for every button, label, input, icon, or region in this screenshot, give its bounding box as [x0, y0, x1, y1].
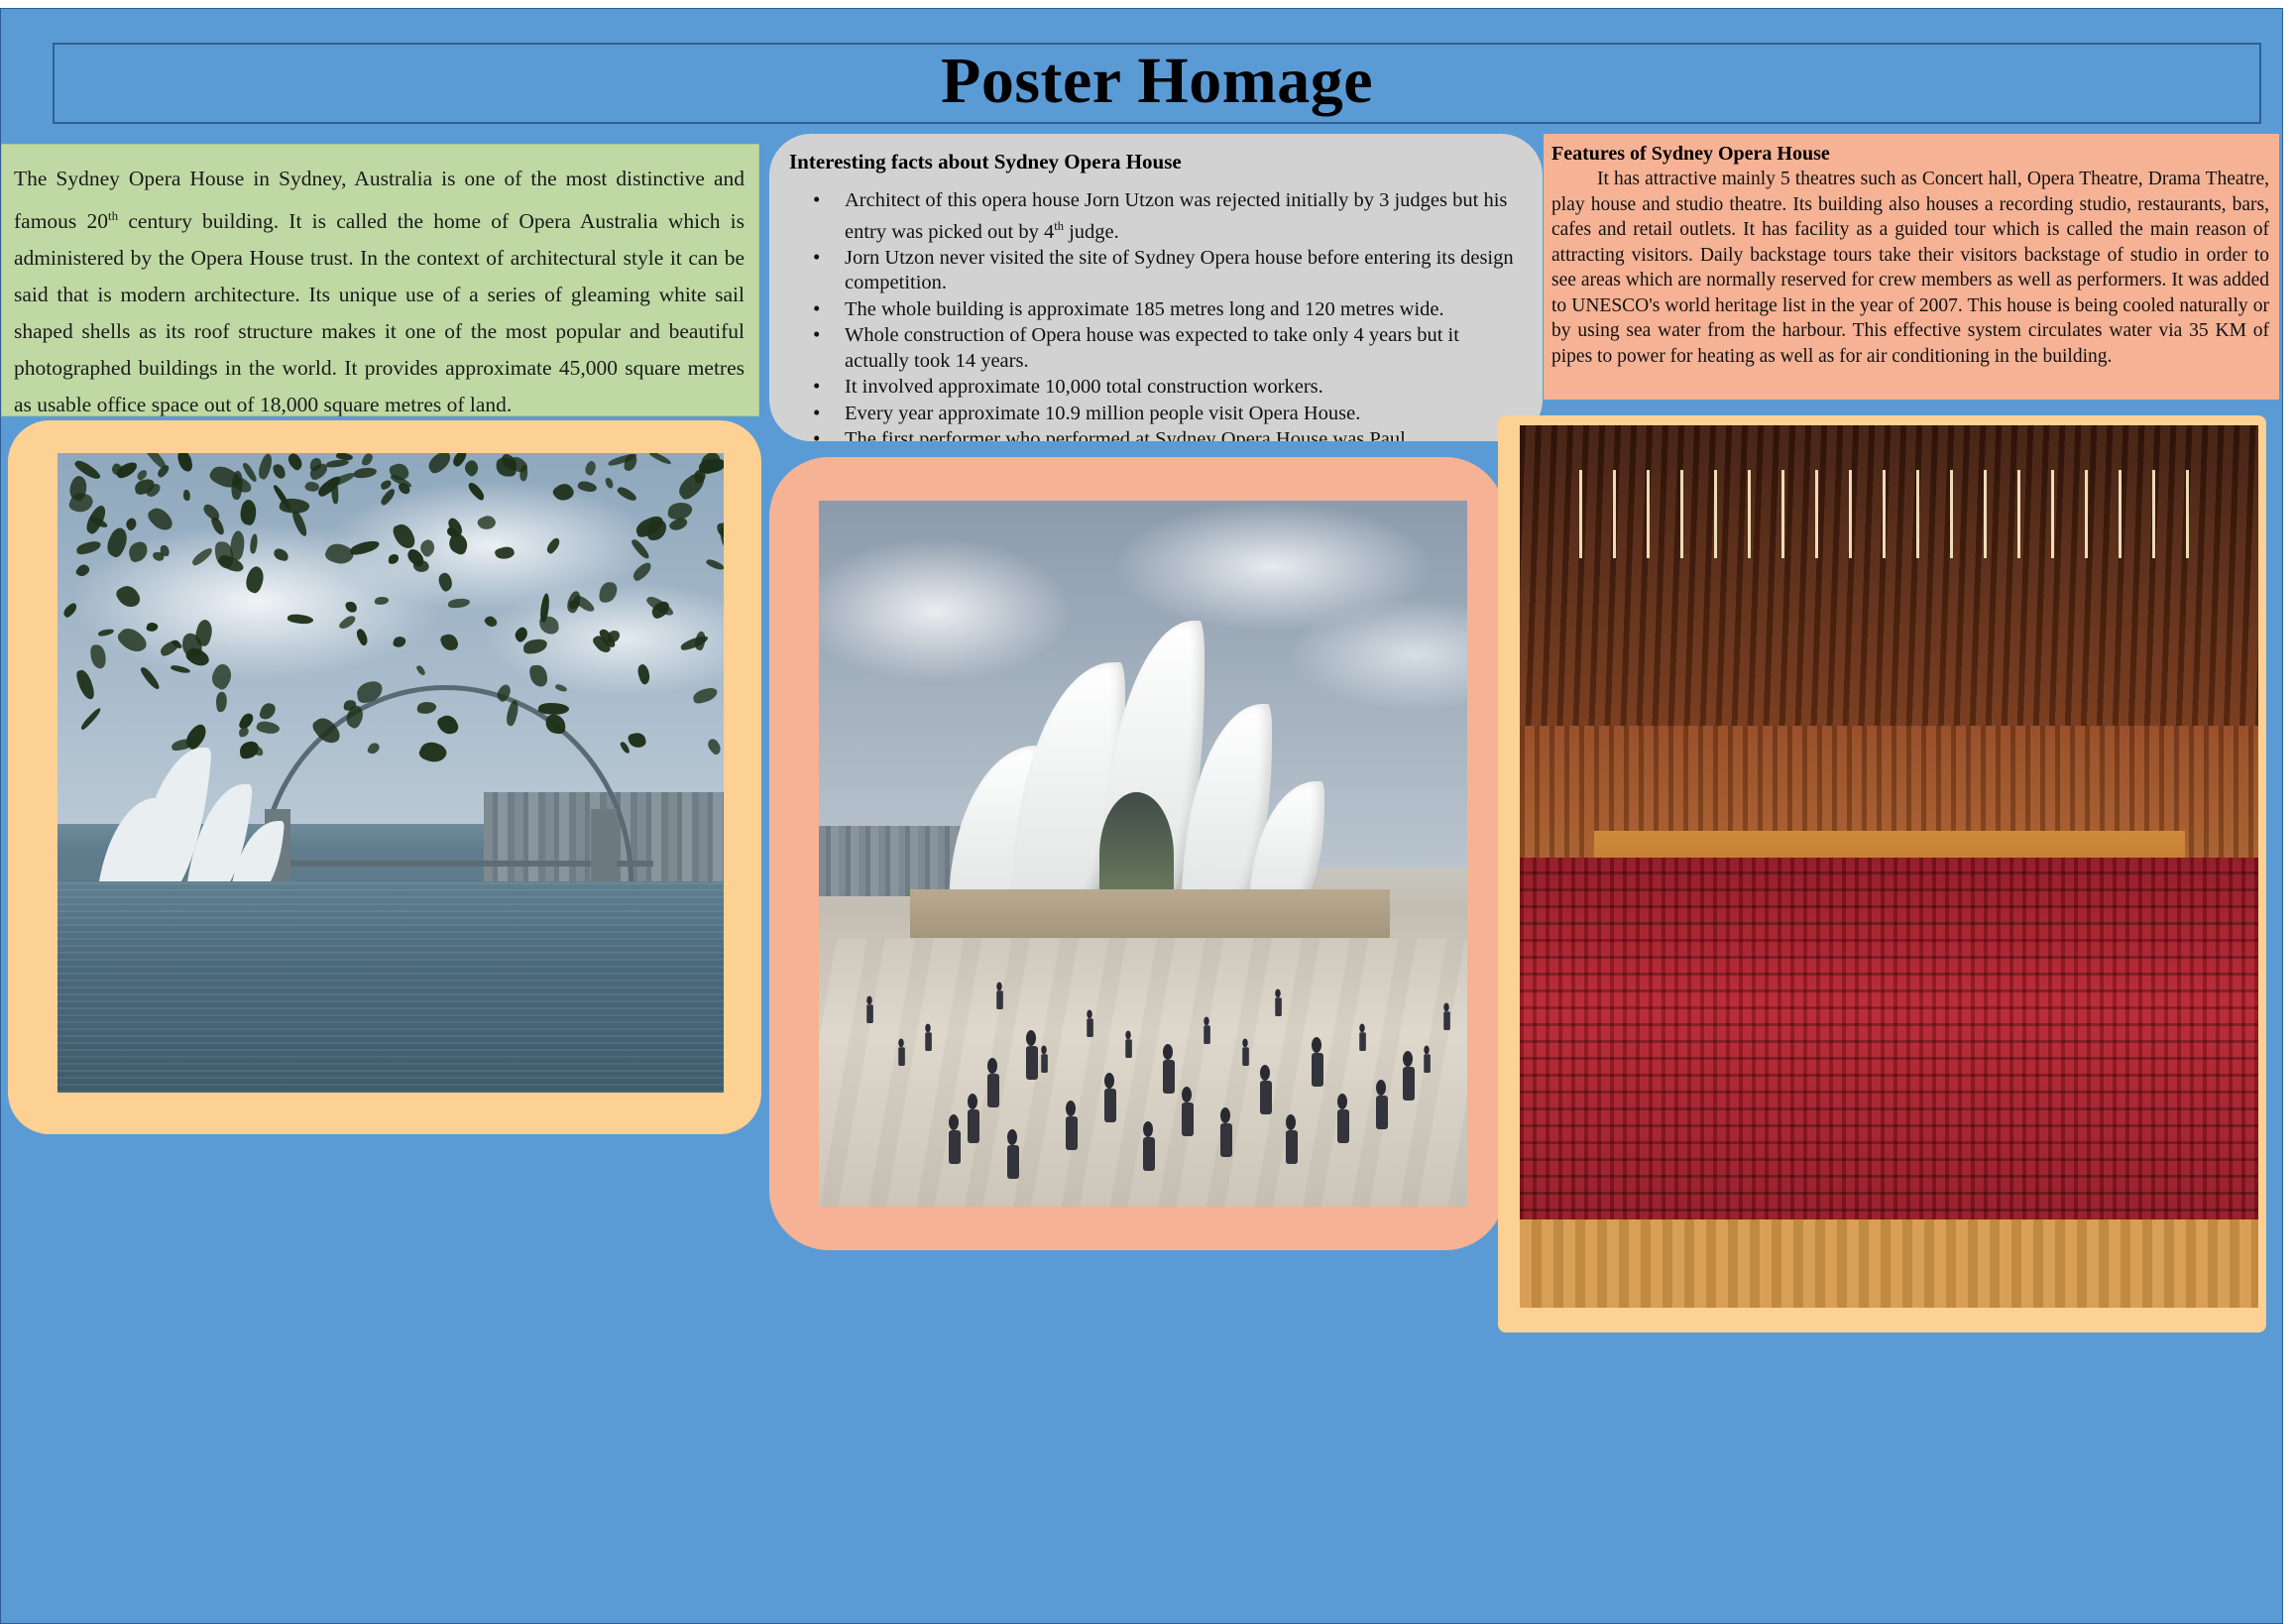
background-skyline — [819, 826, 962, 896]
facts-list: Architect of this opera house Jorn Utzon… — [787, 188, 1527, 441]
features-paragraph: It has attractive mainly 5 theatres such… — [1551, 167, 2269, 369]
opera-house-harbour-bridge-photo — [57, 453, 724, 1093]
opera-house-forecourt-card — [769, 457, 1505, 1250]
visitor-silhouette — [1376, 1080, 1386, 1129]
opera-house-shells — [97, 735, 310, 901]
list-item: Jorn Utzon never visited the site of Syd… — [845, 246, 1523, 296]
fact-text: Every year approximate 10.9 million peop… — [845, 403, 1360, 424]
visitor-silhouette — [1087, 1010, 1092, 1038]
title-banner: Poster Homage — [53, 43, 2261, 124]
visitor-silhouette — [1286, 1114, 1296, 1164]
visitor-silhouette — [1204, 1017, 1209, 1045]
visitor-silhouette — [1007, 1129, 1017, 1179]
list-item: It involved approximate 10,000 total con… — [845, 375, 1523, 401]
list-item: The whole building is approximate 185 me… — [845, 297, 1523, 323]
list-item: The first performer who performed at Syd… — [845, 427, 1523, 441]
visitor-silhouette — [1026, 1030, 1036, 1080]
intro-text-part-2: century building. It is called the home … — [14, 209, 745, 416]
sail-shells — [949, 621, 1324, 917]
harbour-water — [57, 881, 724, 1093]
visitor-silhouette — [1403, 1051, 1413, 1101]
fact-superscript: th — [1054, 219, 1064, 233]
visitor-silhouette — [949, 1114, 959, 1164]
visitor-silhouette — [1126, 1031, 1132, 1059]
visitor-silhouette — [1104, 1073, 1114, 1122]
visitor-silhouette — [1220, 1107, 1230, 1157]
visitor-silhouette — [1424, 1045, 1430, 1073]
page-title: Poster Homage — [941, 44, 1373, 119]
visitor-silhouette — [1260, 1065, 1270, 1114]
fact-text: It involved approximate 10,000 total con… — [845, 376, 1323, 398]
ceiling-lights — [1579, 470, 2200, 558]
visitor-silhouette — [996, 982, 1002, 1009]
features-panel-title: Features of Sydney Opera House — [1551, 143, 2269, 166]
visitor-silhouette — [866, 995, 872, 1023]
harbour-bridge — [258, 690, 625, 882]
intro-superscript: th — [108, 208, 118, 223]
visitor-silhouette — [1163, 1044, 1173, 1094]
fact-text-tail: judge. — [1064, 220, 1119, 242]
fact-text: The whole building is approximate 185 me… — [845, 298, 1444, 320]
visitor-silhouette — [1143, 1121, 1153, 1171]
facts-panel-title: Interesting facts about Sydney Opera Hou… — [789, 150, 1527, 174]
visitor-silhouette — [1275, 988, 1281, 1016]
visitor-silhouette — [1242, 1038, 1248, 1066]
opera-house-harbour-bridge-card — [8, 420, 761, 1134]
visitor-silhouette — [1066, 1101, 1076, 1150]
visitor-silhouette — [968, 1094, 977, 1143]
auditorium-seating — [1520, 858, 2258, 1228]
visitor-silhouette — [899, 1038, 905, 1066]
visitor-silhouette — [1443, 1003, 1449, 1031]
concert-hall-interior-card — [1498, 415, 2266, 1333]
fact-text: Jorn Utzon never visited the site of Syd… — [845, 247, 1514, 294]
bridge-pylon-right — [591, 809, 617, 882]
visitor-silhouette — [1312, 1037, 1321, 1087]
visitor-silhouette — [925, 1024, 931, 1052]
fact-text: The first performer who performed at Syd… — [845, 428, 1406, 441]
visitor-silhouette — [1182, 1087, 1192, 1136]
list-item: Whole construction of Opera house was ex… — [845, 323, 1523, 374]
visitor-silhouette — [987, 1058, 997, 1107]
interesting-facts-panel: Interesting facts about Sydney Opera Hou… — [769, 134, 1543, 441]
intro-paragraph: The Sydney Opera House in Sydney, Austra… — [14, 161, 745, 423]
intro-text-box: The Sydney Opera House in Sydney, Austra… — [1, 144, 759, 416]
fact-text: Architect of this opera house Jorn Utzon… — [845, 189, 1507, 242]
list-item: Every year approximate 10.9 million peop… — [845, 402, 1523, 427]
opera-house-forecourt-photo — [819, 501, 1467, 1207]
visitor-silhouette — [1359, 1024, 1365, 1052]
fact-text: Whole construction of Opera house was ex… — [845, 324, 1459, 372]
timber-floor — [1520, 1219, 2258, 1308]
poster-canvas: Poster Homage The Sydney Opera House in … — [0, 8, 2283, 1624]
list-item: Architect of this opera house Jorn Utzon… — [845, 188, 1523, 245]
concert-hall-interior-photo — [1520, 425, 2258, 1308]
bridge-arch — [258, 685, 634, 882]
visitor-silhouette — [1042, 1045, 1048, 1073]
features-panel: Features of Sydney Opera House It has at… — [1544, 134, 2279, 400]
visitor-silhouette — [1337, 1094, 1347, 1143]
